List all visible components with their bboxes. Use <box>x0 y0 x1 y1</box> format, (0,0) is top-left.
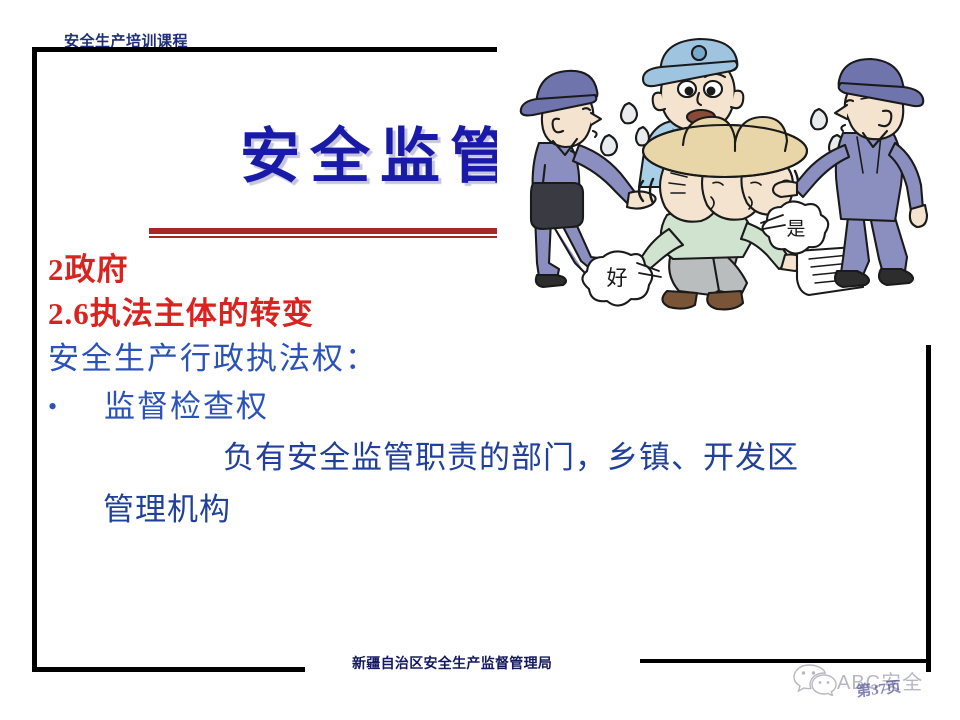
footer-organization: 新疆自治区安全生产监督管理局 <box>352 653 552 673</box>
wechat-icon <box>793 662 837 696</box>
frame-border-top <box>32 47 502 52</box>
speech-bubble-left: 好 <box>582 251 652 305</box>
cartoon-illustration: 好 是 <box>497 33 952 345</box>
bullet-item-label: 监督检查权 <box>104 382 269 432</box>
presentation-slide: 安全生产培训课程 安全监管 2政府 2.6执法主体的转变 安全生产行政执法权： … <box>0 0 960 720</box>
bullet-list-item: • 监督检查权 <box>48 382 918 432</box>
bullet-dot-icon: • <box>48 382 104 432</box>
body-detail-line-1: 负有安全监管职责的部门，乡镇、开发区 <box>48 432 918 484</box>
body-detail-line-2: 管理机构 <box>48 484 918 536</box>
frame-border-right <box>926 340 931 672</box>
title-underline-thin <box>149 236 499 238</box>
page-title: 安全监管 <box>240 108 520 195</box>
frame-border-bottom-left <box>32 667 305 672</box>
frame-border-left <box>32 47 37 672</box>
title-underline-thick <box>149 228 499 234</box>
svg-text:好: 好 <box>607 266 628 290</box>
svg-text:是: 是 <box>786 219 805 240</box>
